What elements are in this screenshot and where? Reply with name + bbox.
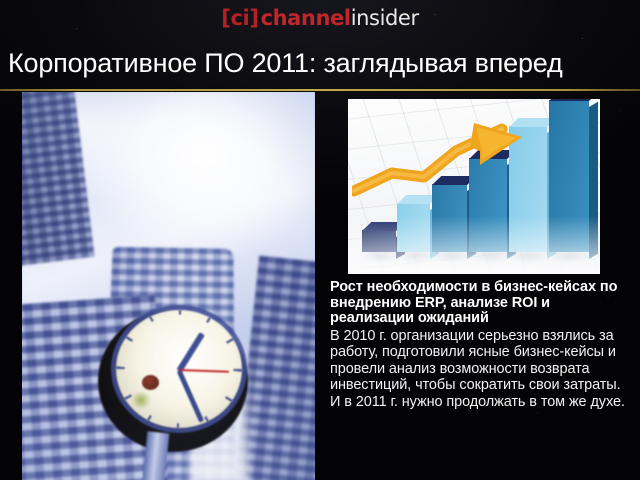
content-text-column: Рост необходимости в бизнес-кейсах по вн… xyxy=(330,280,630,410)
photo-blur-overlay xyxy=(22,92,315,480)
logo-bracket-close: ] xyxy=(249,6,258,30)
city-clock-photo xyxy=(22,92,315,480)
logo-brand-bold: channel xyxy=(261,6,351,30)
growth-arrow-icon xyxy=(352,121,542,209)
content-body: В 2010 г. организации серьезно взялись з… xyxy=(330,328,630,411)
logo-ci-mark: ci xyxy=(231,6,250,30)
slide-root: [ci]channelinsider Корпоративное ПО 2011… xyxy=(0,0,640,480)
channelinsider-logo[interactable]: [ci]channelinsider xyxy=(221,8,418,29)
chart-floor-reflection xyxy=(348,216,600,274)
growth-bar-chart-photo xyxy=(348,99,600,274)
gold-divider xyxy=(0,89,640,91)
logo-brand-light: insider xyxy=(351,6,419,30)
logo-bracket-open: [ xyxy=(221,6,230,30)
page-title: Корпоративное ПО 2011: заглядывая вперед xyxy=(0,48,563,78)
title-band: Корпоративное ПО 2011: заглядывая вперед xyxy=(0,36,640,90)
header-bar: [ci]channelinsider xyxy=(0,0,640,36)
content-heading: Рост необходимости в бизнес-кейсах по вн… xyxy=(330,280,630,327)
